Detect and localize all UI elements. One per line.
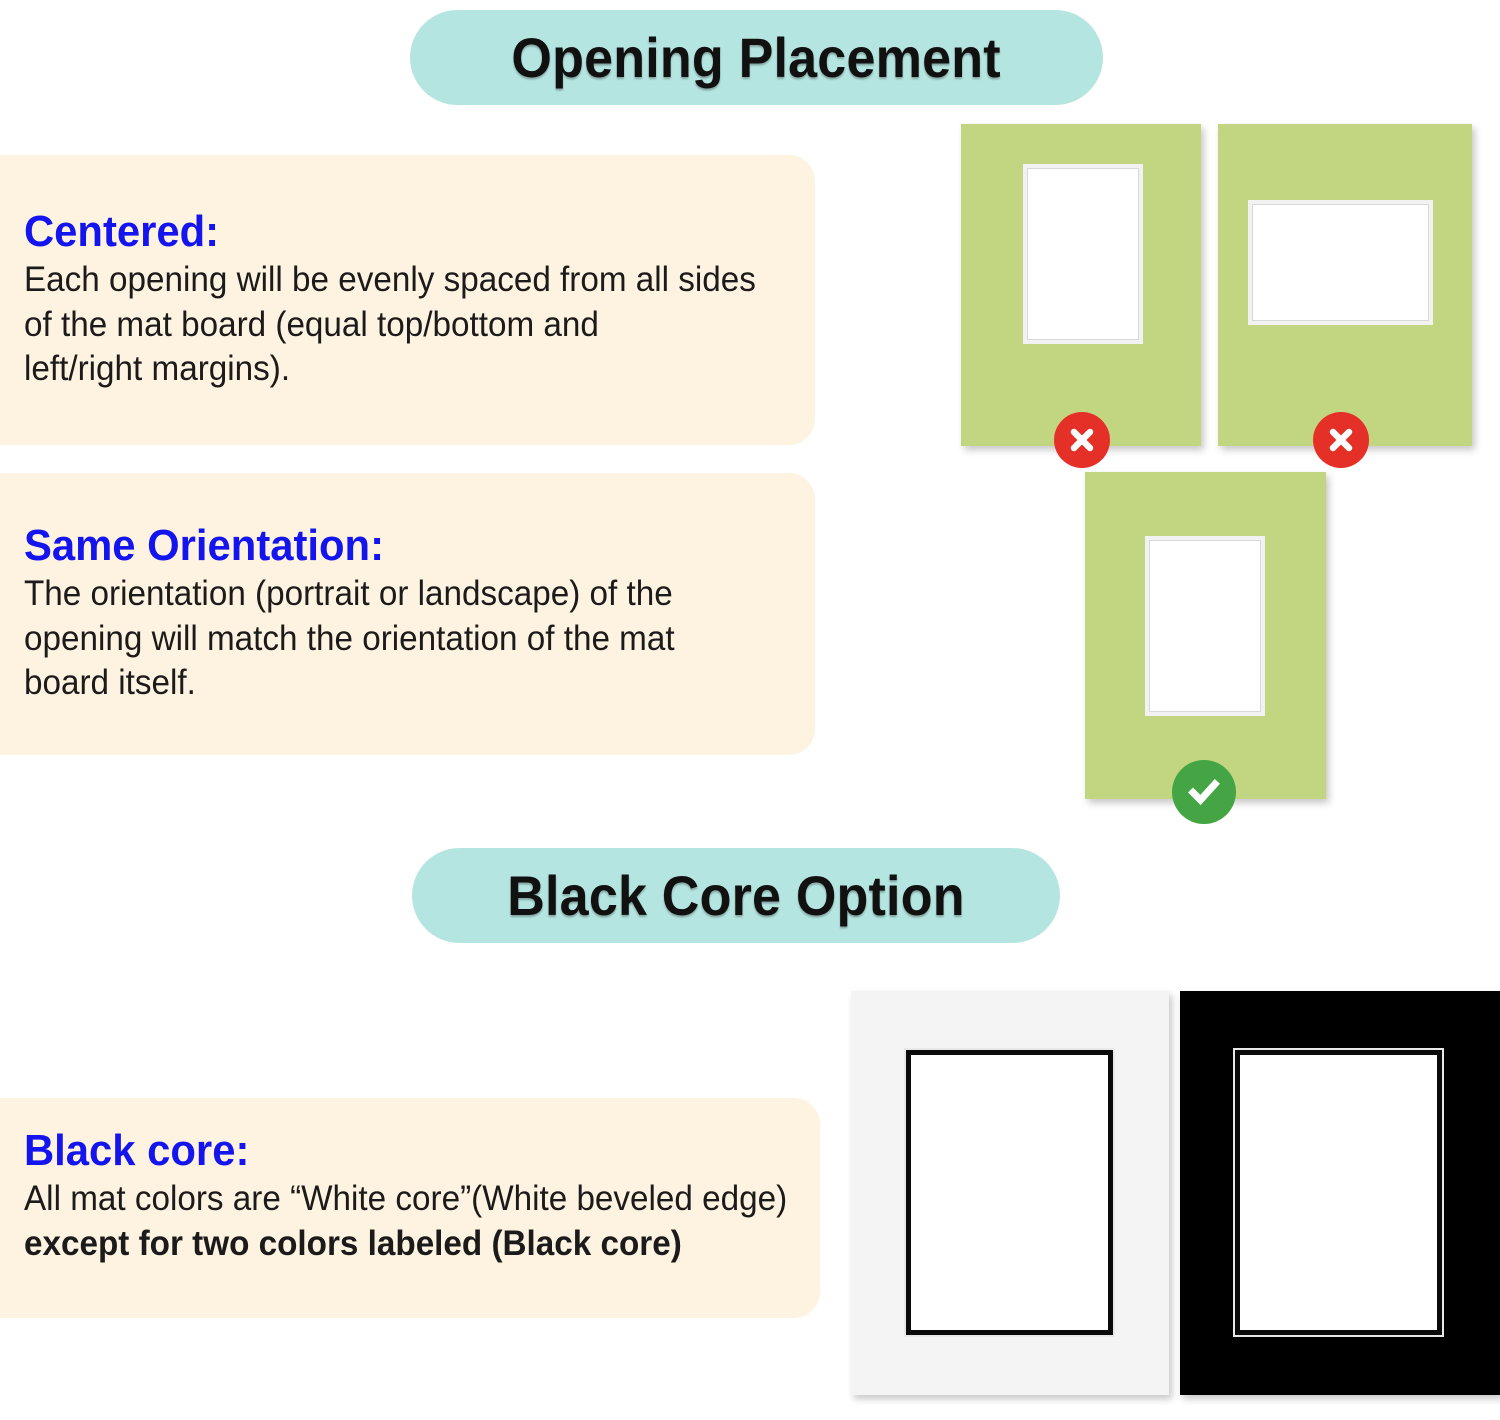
info-card-black-core: Black core: All mat colors are “White co… <box>0 1098 820 1318</box>
mat-opening-black-core <box>1235 1050 1442 1335</box>
info-card-same-orientation-content: Same Orientation: The orientation (portr… <box>24 521 797 706</box>
banner-black-core-option: Black Core Option <box>412 848 1060 943</box>
mat-board-centered-portrait <box>1085 472 1326 799</box>
info-card-black-core-body: All mat colors are “White core”(White be… <box>24 1177 763 1266</box>
cross-icon <box>1054 412 1110 468</box>
info-card-same-orientation-heading: Same Orientation: <box>24 521 758 570</box>
mat-opening-portrait <box>1145 536 1265 716</box>
info-card-centered-body: Each opening will be evenly spaced from … <box>24 258 758 391</box>
mat-board-offcenter-portrait <box>961 124 1201 446</box>
info-card-black-core-heading: Black core: <box>24 1126 763 1175</box>
info-card-black-core-body-line-2: except for two colors labeled (Black cor… <box>24 1222 763 1266</box>
mat-board-landscape-opening <box>1218 124 1472 446</box>
mat-opening-black-core <box>906 1050 1113 1335</box>
banner-opening-placement-title: Opening Placement <box>512 25 1001 90</box>
info-card-centered-content: Centered: Each opening will be evenly sp… <box>24 207 797 392</box>
info-card-same-orientation-body: The orientation (portrait or landscape) … <box>24 572 758 705</box>
info-card-same-orientation-body-line-3: board itself. <box>24 661 758 705</box>
mat-board-white-black-core <box>851 991 1169 1395</box>
info-card-black-core-body-line-1: All mat colors are “White core”(White be… <box>24 1177 763 1221</box>
info-card-centered-body-line-1: Each opening will be evenly spaced from … <box>24 258 758 302</box>
mat-opening-landscape <box>1248 200 1433 325</box>
info-card-centered-body-line-3: left/right margins). <box>24 347 758 391</box>
info-card-centered-body-line-2: of the mat board (equal top/bottom and <box>24 303 758 347</box>
banner-black-core-option-title: Black Core Option <box>507 863 965 928</box>
info-card-same-orientation-body-line-1: The orientation (portrait or landscape) … <box>24 572 758 616</box>
info-card-same-orientation-body-line-2: opening will match the orientation of th… <box>24 617 758 661</box>
info-card-centered-heading: Centered: <box>24 207 758 256</box>
banner-opening-placement: Opening Placement <box>410 10 1103 105</box>
mat-board-black-black-core <box>1180 991 1500 1395</box>
info-card-centered: Centered: Each opening will be evenly sp… <box>0 155 815 445</box>
cross-icon <box>1313 412 1369 468</box>
info-card-black-core-content: Black core: All mat colors are “White co… <box>24 1126 802 1266</box>
info-card-same-orientation: Same Orientation: The orientation (portr… <box>0 473 815 755</box>
mat-opening-portrait <box>1023 164 1143 344</box>
check-icon <box>1172 760 1236 824</box>
